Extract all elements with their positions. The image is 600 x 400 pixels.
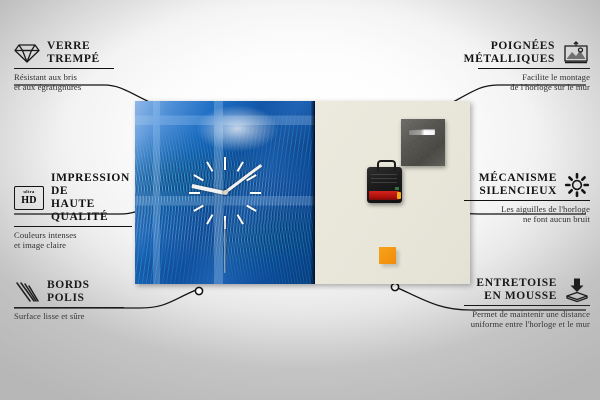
clock-face xyxy=(135,101,315,284)
callout-title-line2: HAUTE QUALITÉ xyxy=(51,198,142,224)
callout-impression-haute-qualite: ultra HD IMPRESSION DE HAUTE QUALITÉ Cou… xyxy=(14,172,142,251)
callout-title-line1: ENTRETOISE xyxy=(476,277,557,290)
callout-title-line1: BORDS xyxy=(47,279,90,292)
polished-edges-icon xyxy=(14,281,40,303)
callout-mecanisme-silencieux: MÉCANISME SILENCIEUX Les aiguilles de l'… xyxy=(462,172,590,225)
callout-poignees-metalliques: POIGNÉES MÉTALLIQUES Facilite le montage… xyxy=(474,40,590,93)
infographic-canvas: VERRE TREMPÉ Résistant aux bris et aux é… xyxy=(0,0,600,400)
callout-title-line2: EN MOUSSE xyxy=(476,290,557,303)
ultra-hd-icon: ultra HD xyxy=(14,186,44,210)
anchor-dot-bords xyxy=(195,287,202,294)
diamond-icon xyxy=(14,42,40,64)
callout-title-line2: MÉTALLIQUES xyxy=(464,53,555,66)
clock-mechanism xyxy=(367,167,402,203)
clock-front-panel xyxy=(135,101,315,284)
callout-desc-line2: de l'horloge sur le mur xyxy=(474,82,590,93)
clock-minute-hand xyxy=(224,163,263,193)
ultra-hd-icon-large-label: HD xyxy=(21,196,36,206)
callout-desc-line1: Facilite le montage xyxy=(474,72,590,83)
callout-title-line1: POIGNÉES xyxy=(464,40,555,53)
press-down-pad-icon xyxy=(564,277,590,303)
callout-desc-line2: et image claire xyxy=(14,240,142,251)
callout-desc-line2: ne font aucun bruit xyxy=(462,214,590,225)
callout-title-line1: IMPRESSION DE xyxy=(51,172,142,198)
callout-desc-line2: et aux égratignures xyxy=(14,82,136,93)
callout-desc-line1: Résistant aux bris xyxy=(14,72,136,83)
gear-icon xyxy=(564,172,590,198)
callout-entretoise-en-mousse: ENTRETOISE EN MOUSSE Permet de maintenir… xyxy=(462,277,590,330)
hanger-plate xyxy=(401,119,445,166)
product-image xyxy=(135,101,470,284)
callout-desc-line1: Les aiguilles de l'horloge xyxy=(462,204,590,215)
clock-center-pin xyxy=(223,190,228,195)
callout-title-line2: SILENCIEUX xyxy=(479,185,557,198)
callout-desc-line1: Permet de maintenir une distance xyxy=(462,309,590,320)
callout-title-line1: VERRE xyxy=(47,40,100,53)
callout-rule xyxy=(14,68,114,69)
callout-desc-line1: Surface lisse et sûre xyxy=(14,311,136,322)
callout-rule xyxy=(14,226,132,227)
callout-rule xyxy=(464,305,590,306)
callout-verre-trempe: VERRE TREMPÉ Résistant aux bris et aux é… xyxy=(14,40,136,93)
callout-desc-line1: Couleurs intenses xyxy=(14,230,142,241)
callout-rule xyxy=(464,200,590,201)
callout-desc-line2: uniforme entre l'horloge et le mur xyxy=(462,319,590,330)
callout-rule xyxy=(14,307,124,308)
callout-title-line2: POLIS xyxy=(47,292,90,305)
callout-bords-polis: BORDS POLIS Surface lisse et sûre xyxy=(14,279,136,321)
callout-title-line1: MÉCANISME xyxy=(479,172,557,185)
clock-back-panel xyxy=(315,101,470,284)
picture-hanger-icon xyxy=(562,41,590,65)
callout-title-line2: TREMPÉ xyxy=(47,53,100,66)
foam-spacer xyxy=(379,247,396,264)
callout-rule xyxy=(478,68,590,69)
anchor-dot-entretoise xyxy=(391,283,398,290)
